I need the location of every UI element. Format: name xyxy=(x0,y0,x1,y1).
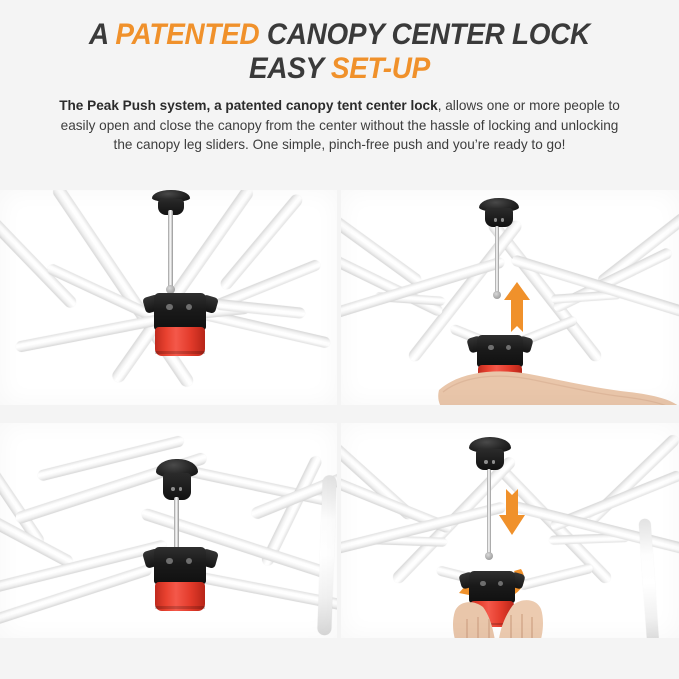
frame-illustration-closed xyxy=(0,190,337,405)
hub-bolt xyxy=(498,581,504,587)
hub-body xyxy=(154,547,206,584)
hub-bolt xyxy=(166,558,172,564)
slider-pole xyxy=(174,497,179,553)
cap-bolt xyxy=(501,218,505,222)
title-highlight-patented: PATENTED xyxy=(115,18,259,51)
title-suffix: CANOPY CENTER LOCK xyxy=(259,18,590,51)
page-title-line-1: A PATENTED CANOPY CENTER LOCK xyxy=(44,18,635,51)
cap-bolt xyxy=(484,460,488,464)
product-infographic: A PATENTED CANOPY CENTER LOCK EASY SET-U… xyxy=(0,0,679,679)
frame-illustration-pull-down xyxy=(341,423,679,638)
panel-canopy-frame-open xyxy=(0,423,337,638)
pole-tip xyxy=(485,552,493,560)
top-cap-bracket xyxy=(469,437,511,471)
description-bold-lead: The Peak Push system, a patented canopy … xyxy=(59,98,438,113)
center-lock-hub xyxy=(154,547,206,611)
header: A PATENTED CANOPY CENTER LOCK EASY SET-U… xyxy=(0,0,679,155)
page-title-line-2: EASY SET-UP xyxy=(44,52,635,85)
description-last-line: One simple, pinch-free push and you’re r… xyxy=(253,137,566,152)
hub-red-drum xyxy=(155,327,205,356)
top-cap-bracket xyxy=(479,198,519,228)
photo-grid xyxy=(0,190,679,660)
frame-illustration-push-up xyxy=(341,190,679,405)
slider-pole xyxy=(487,469,491,555)
title-prefix: A xyxy=(89,18,115,51)
frame-illustration-open xyxy=(0,423,337,638)
arrow-down-icon xyxy=(499,489,525,535)
cap-bolt xyxy=(179,487,183,491)
description-paragraph: The Peak Push system, a patented canopy … xyxy=(22,96,657,155)
hub-bolt xyxy=(186,558,192,564)
center-lock-hub xyxy=(154,293,206,356)
cap-bolt xyxy=(494,218,498,222)
cap-bolt xyxy=(492,460,496,464)
hub-bolt xyxy=(166,304,172,310)
title-highlight-setup: SET-UP xyxy=(331,52,430,85)
panel-canopy-frame-closed xyxy=(0,190,337,405)
pole-tip xyxy=(493,291,501,299)
hub-bolt xyxy=(480,581,486,587)
hub-bolt xyxy=(186,304,192,310)
title-easy: EASY xyxy=(249,52,331,85)
frame-tube xyxy=(341,256,506,321)
cap-bolt xyxy=(171,487,175,491)
top-cap-bracket xyxy=(156,459,198,501)
hub-bolt xyxy=(488,345,494,351)
hub-red-drum xyxy=(155,582,205,611)
slider-pole xyxy=(495,226,499,294)
hand-open-palm xyxy=(433,360,679,405)
slider-pole xyxy=(168,210,173,288)
cap-body xyxy=(476,449,505,471)
frame-tube xyxy=(195,571,337,614)
hub-body xyxy=(154,293,206,330)
panel-canopy-frame-pull-down xyxy=(341,423,679,638)
hand-grip-right xyxy=(491,599,547,638)
cap-body xyxy=(485,208,512,227)
panel-canopy-frame-push-up xyxy=(341,190,679,405)
hub-bolt xyxy=(506,345,512,351)
arrow-up-icon xyxy=(504,282,530,332)
